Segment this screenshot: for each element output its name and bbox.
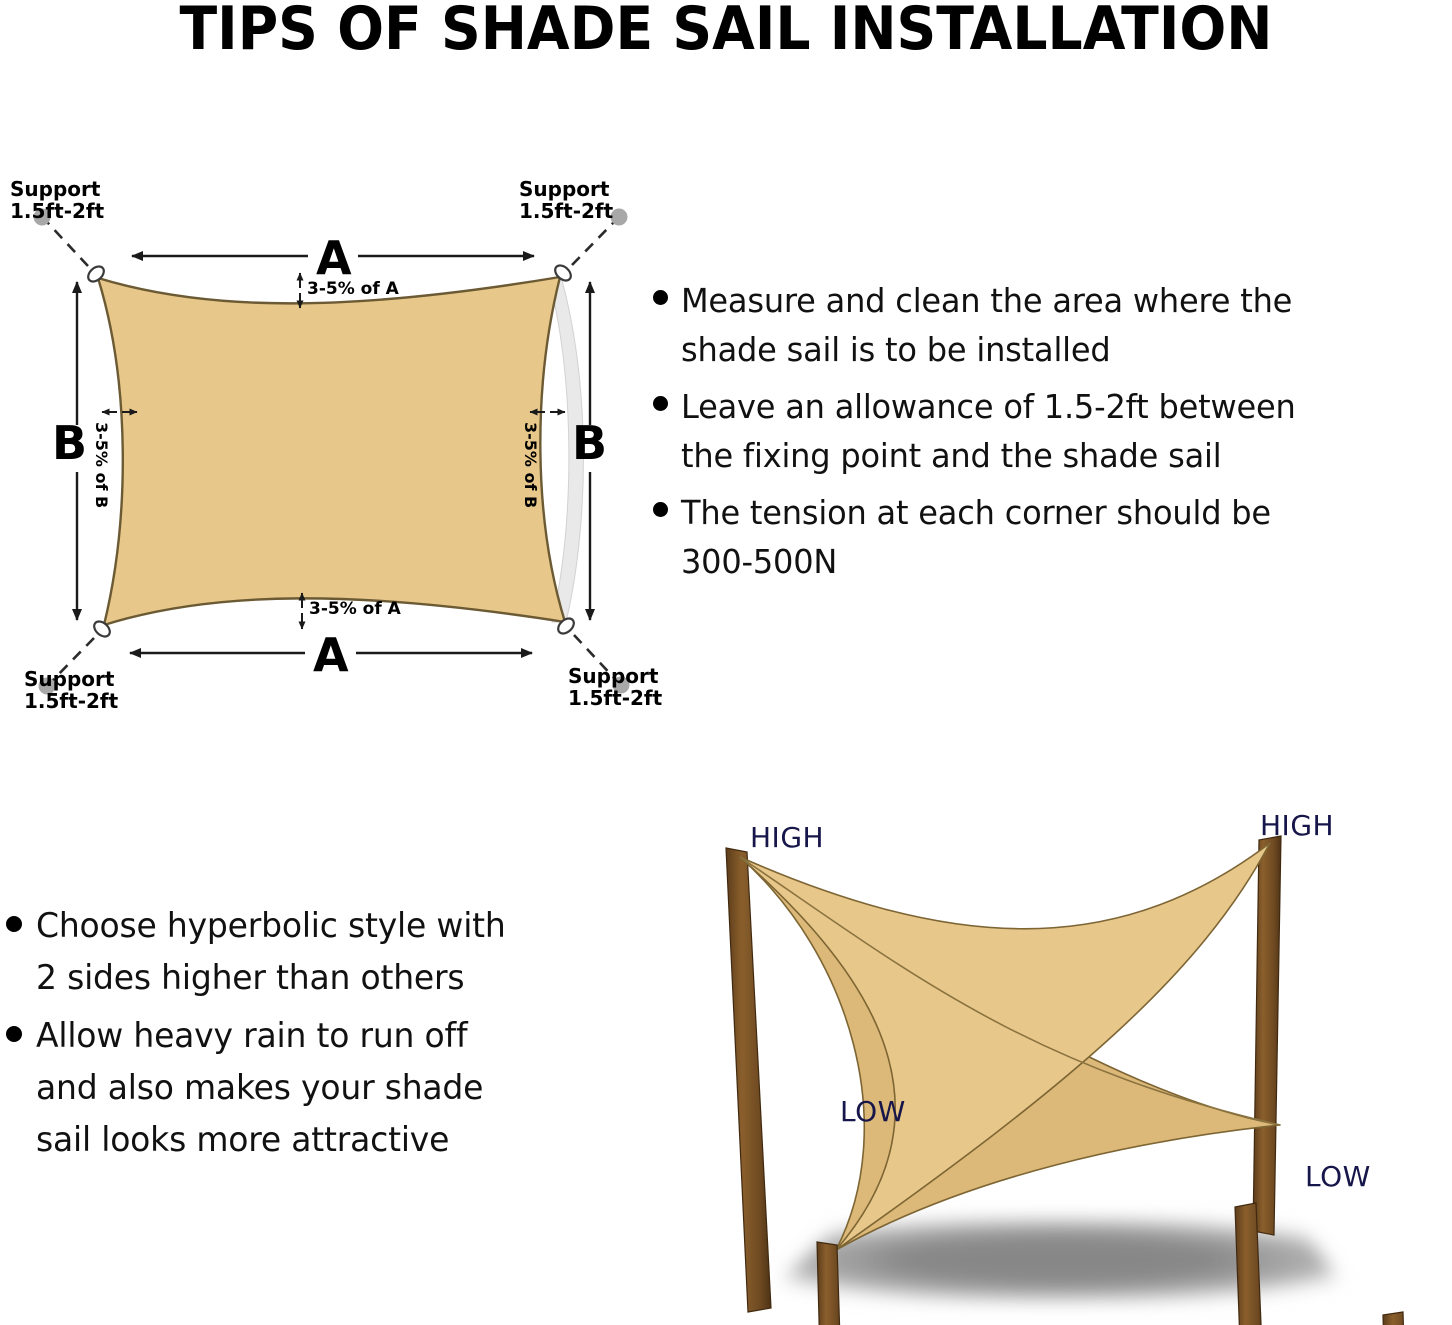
label-high-right: HIGH	[1260, 809, 1334, 842]
label-low-right: LOW	[1305, 1160, 1371, 1193]
list-item-text: Choose hyperbolic style with 2 sides hig…	[36, 900, 506, 1004]
list-item-line: and also makes your shade	[36, 1068, 483, 1108]
dimension-label-b-left: B	[52, 418, 87, 470]
page-title: TIPS OF SHADE SAIL INSTALLATION	[58, 0, 1394, 62]
support-label-line1: Support	[519, 178, 613, 200]
dimension-label-b-right: B	[572, 418, 607, 470]
hyperbolic-sail-illustration: HIGH HIGH LOW LOW	[640, 795, 1452, 1325]
support-top-left-label: Support 1.5ft-2ft	[10, 178, 104, 223]
sail-lobe-front	[740, 843, 1270, 1250]
list-item-text: Allow heavy rain to run off and also mak…	[36, 1010, 483, 1166]
support-label-line1: Support	[24, 668, 118, 690]
list-item-line: Leave an allowance of 1.5-2ft between	[681, 387, 1296, 426]
list-item-line: shade sail is to be installed	[681, 330, 1110, 369]
bullet-dot-icon	[6, 916, 22, 932]
shade-sail-dimension-diagram: Support 1.5ft-2ft Support 1.5ft-2ft Supp…	[0, 160, 660, 740]
bullet-dot-icon	[6, 1026, 22, 1042]
list-item-line: 2 sides higher than others	[36, 958, 464, 998]
sag-note-top: 3-5% of A	[307, 280, 399, 299]
support-bottom-left-label: Support 1.5ft-2ft	[24, 668, 118, 713]
list-item: Leave an allowance of 1.5-2ft between th…	[653, 382, 1452, 480]
list-item-line: the fixing point and the shade sail	[681, 436, 1221, 475]
list-item-text: The tension at each corner should be 300…	[681, 488, 1271, 586]
sag-note-right: 3-5% of B	[521, 422, 539, 508]
bullet-dot-icon	[653, 502, 668, 517]
tips-list-left: Choose hyperbolic style with 2 sides hig…	[6, 900, 626, 1172]
list-item-line: sail looks more attractive	[36, 1120, 449, 1160]
list-item-line: Choose hyperbolic style with	[36, 906, 506, 946]
dimension-label-a-bottom: A	[313, 630, 349, 682]
list-item-text: Measure and clean the area where the sha…	[681, 276, 1292, 374]
support-bottom-right-label: Support 1.5ft-2ft	[568, 665, 662, 710]
list-item-text: Leave an allowance of 1.5-2ft between th…	[681, 382, 1296, 480]
pole-high-right	[1253, 836, 1281, 1235]
label-low-left: LOW	[840, 1095, 906, 1128]
list-item-line: 300-500N	[681, 542, 837, 581]
support-label-line2: 1.5ft-2ft	[10, 200, 104, 222]
support-top-right-label: Support 1.5ft-2ft	[519, 178, 613, 223]
support-label-line1: Support	[568, 665, 662, 687]
list-item: Allow heavy rain to run off and also mak…	[6, 1010, 626, 1166]
list-item-line: Measure and clean the area where the	[681, 281, 1292, 320]
list-item: The tension at each corner should be 300…	[653, 488, 1452, 586]
list-item: Measure and clean the area where the sha…	[653, 276, 1452, 374]
hyperbolic-sail-svg	[640, 795, 1452, 1325]
support-label-line2: 1.5ft-2ft	[568, 687, 662, 709]
label-high-left: HIGH	[750, 821, 824, 854]
sail-body	[98, 277, 565, 625]
list-item: Choose hyperbolic style with 2 sides hig…	[6, 900, 626, 1004]
pole-low-right	[1383, 1312, 1411, 1325]
bullet-dot-icon	[653, 290, 668, 305]
support-label-line2: 1.5ft-2ft	[24, 690, 118, 712]
tips-list-right: Measure and clean the area where the sha…	[653, 276, 1452, 594]
pole-high-left	[726, 848, 771, 1312]
bullet-dot-icon	[653, 396, 668, 411]
support-label-line2: 1.5ft-2ft	[519, 200, 613, 222]
dimension-label-a-top: A	[316, 233, 352, 285]
sag-note-left: 3-5% of B	[92, 422, 110, 508]
list-item-line: Allow heavy rain to run off	[36, 1016, 467, 1056]
sag-note-bottom: 3-5% of A	[309, 600, 401, 619]
support-label-line1: Support	[10, 178, 104, 200]
list-item-line: The tension at each corner should be	[681, 493, 1271, 532]
